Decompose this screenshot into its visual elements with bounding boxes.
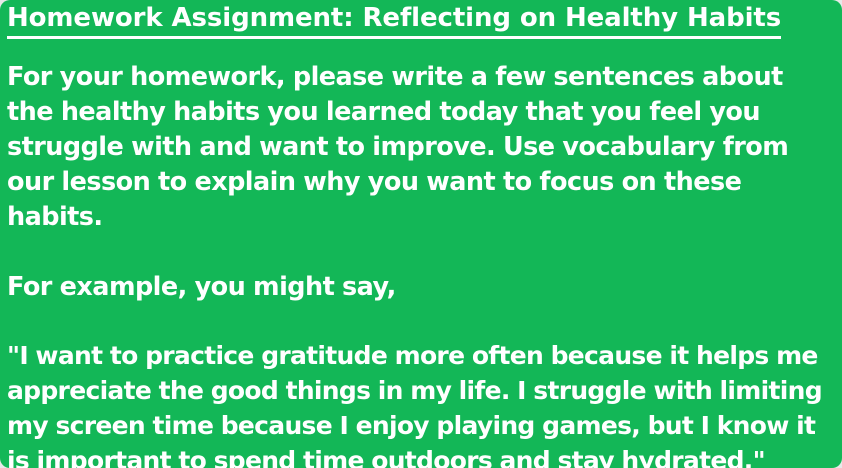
- page-title: Homework Assignment: Reflecting on Healt…: [7, 1, 781, 39]
- spacer-before-example: [6, 235, 834, 270]
- example-lead-in-paragraph: For example, you might say,: [6, 270, 834, 305]
- example-quote-paragraph: "I want to practice gratitude more often…: [6, 338, 834, 468]
- slide-content: Homework Assignment: Reflecting on Healt…: [0, 0, 842, 468]
- spacer-before-quote: [6, 305, 834, 338]
- spacer-after-title: [6, 39, 834, 60]
- slide-canvas: Homework Assignment: Reflecting on Healt…: [0, 0, 842, 468]
- instruction-paragraph: For your homework, please write a few se…: [6, 60, 834, 235]
